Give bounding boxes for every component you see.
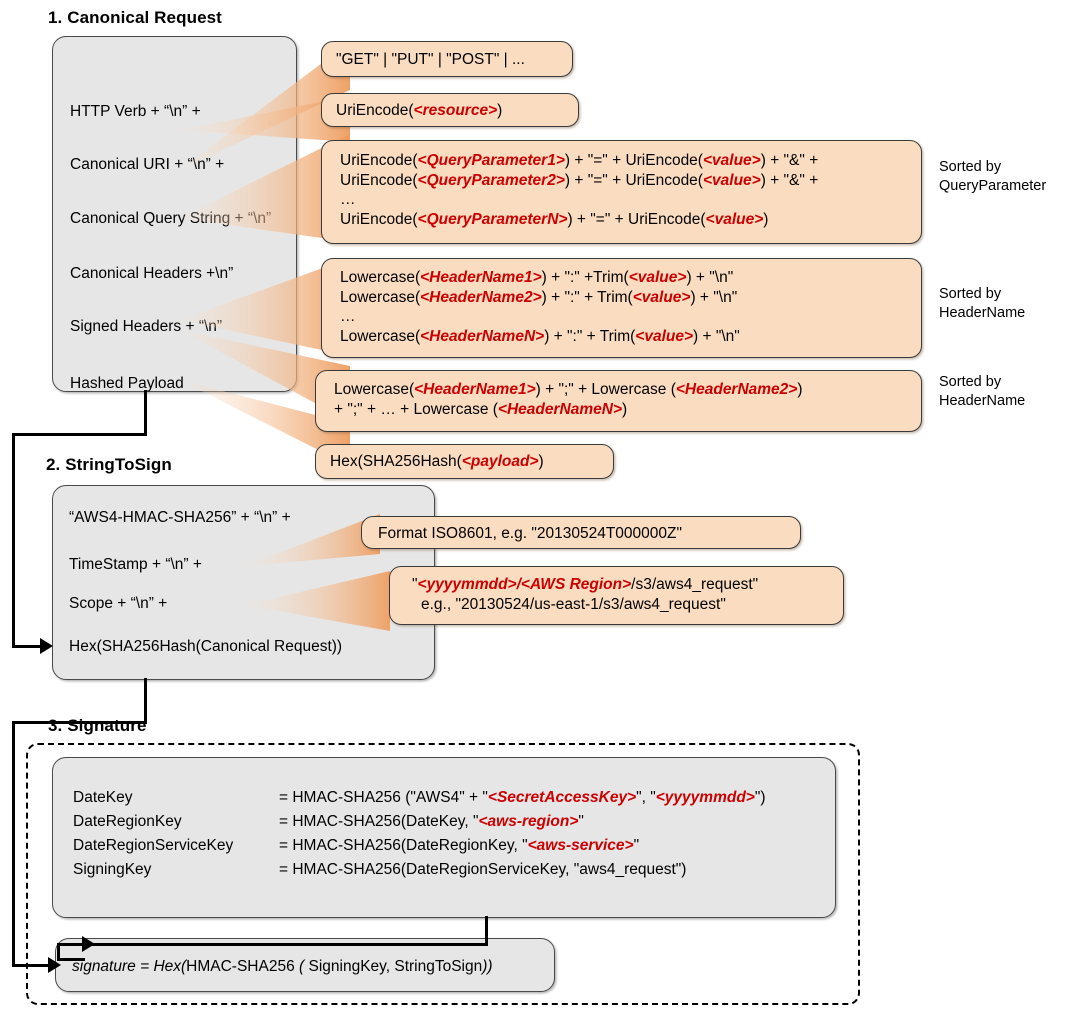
h-r3-v2: <value>: [635, 328, 693, 345]
q-r2-ellipsis: …: [340, 190, 921, 210]
signature-group-dashed-box: [26, 743, 860, 1005]
side-note-signed-headers-line1: Sorted by: [939, 373, 1001, 391]
payload-post: ): [539, 453, 544, 470]
sh-r0-c: ): [797, 381, 802, 398]
q-r0-b: ) + "=" + UriEncode(: [565, 152, 703, 169]
q-r1-a: UriEncode(: [340, 172, 418, 189]
arrowhead-signingkey-into-signature: [82, 936, 95, 952]
q-r3-v2: <value>: [706, 211, 764, 228]
scope-r1: e.g., "20130524/us-east-1/s3/aws4_reques…: [412, 595, 843, 615]
payload-pre: Hex(SHA256Hash(: [330, 453, 462, 470]
sts-line-scope: Scope + “\n” +: [69, 594, 167, 613]
q-r1-b: ) + "=" + UriEncode(: [565, 172, 703, 189]
diagram-canvas: 1. Canonical Request: [0, 0, 1068, 1016]
h-r3-a: Lowercase(: [340, 328, 420, 345]
side-note-query-line2: QueryParameter: [939, 177, 1046, 195]
callout-uri-pre: UriEncode(: [336, 102, 414, 119]
h-r3-b: ) + ":" + Trim(: [544, 328, 635, 345]
h-r3-c: ) + "\n": [693, 328, 740, 345]
connector-sts-left: [12, 721, 147, 724]
callout-uri-post: ): [497, 102, 502, 119]
pointer-scope: [245, 565, 390, 635]
h-r0-a: Lowercase(: [340, 269, 420, 286]
side-note-headers-line1: Sorted by: [939, 285, 1001, 303]
section-title-signature: 3. Signature: [48, 716, 147, 736]
sh-r0-v2: <HeaderName2>: [676, 381, 798, 398]
callout-uri-encode: UriEncode(<resource>): [321, 93, 579, 127]
h-r0-c: ) + "\n": [686, 269, 733, 286]
connector-sts-vertical: [12, 721, 15, 967]
q-r1-v1: <QueryParameter2>: [418, 172, 565, 189]
pointer-timestamp: [245, 508, 380, 568]
cr-line-hashed-payload: Hashed Payload: [70, 374, 184, 393]
scope-r0-c: /s3/aws4_request": [631, 576, 758, 593]
sh-r0-b: ) + ";" + Lowercase (: [536, 381, 676, 398]
connector-cr-vertical: [12, 433, 15, 648]
q-r1-c: ) + "&" +: [761, 172, 819, 189]
payload-var: <payload>: [462, 453, 539, 470]
h-r3-v1: <HeaderNameN>: [420, 328, 544, 345]
callout-timestamp-format: Format ISO8601, e.g. "20130524T000000Z": [361, 516, 801, 549]
arrowhead-sts-into-signature: [48, 957, 61, 973]
side-note-headers-line2: HeaderName: [939, 304, 1025, 322]
sh-r1-b: ): [622, 401, 627, 418]
callout-signed-headers: Lowercase(<HeaderName1>) + ";" + Lowerca…: [315, 370, 922, 432]
scope-r0-v1: <yyyymmdd>: [418, 576, 517, 593]
side-note-signed-headers-line2: HeaderName: [939, 392, 1025, 410]
h-r1-v1: <HeaderName2>: [420, 289, 542, 306]
side-note-query-line1: Sorted by: [939, 158, 1001, 176]
callout-http-verb: "GET" | "PUT" | "POST" | ...: [321, 41, 573, 77]
sts-line-hashed-canonical-request: Hex(SHA256Hash(Canonical Request)): [69, 637, 342, 656]
q-r3-v1: <QueryParameterN>: [418, 211, 568, 228]
h-r1-v2: <value>: [633, 289, 691, 306]
h-r0-b: ) + ":" +Trim(: [542, 269, 629, 286]
h-r1-a: Lowercase(: [340, 289, 420, 306]
callout-http-verb-text: "GET" | "PUT" | "POST" | ...: [336, 50, 572, 70]
callout-hashed-payload: Hex(SHA256Hash(<payload>): [315, 444, 614, 479]
sh-r0-a: Lowercase(: [334, 381, 414, 398]
q-r0-v2: <value>: [703, 152, 761, 169]
sh-r1-a: + ";" + … + Lowercase (: [334, 401, 498, 418]
callout-timestamp-text: Format ISO8601, e.g. "20130524T000000Z": [378, 524, 800, 544]
q-r3-b: ) + "=" + UriEncode(: [567, 211, 705, 228]
connector-signingkey-down: [485, 916, 488, 946]
q-r1-v2: <value>: [703, 172, 761, 189]
h-r0-v2: <value>: [629, 269, 687, 286]
callout-canonical-query-string: UriEncode(<QueryParameter1>) + "=" + Uri…: [321, 140, 922, 244]
h-r2-ellipsis: …: [340, 307, 921, 327]
h-r1-b: ) + ":" + Trim(: [542, 289, 633, 306]
arrowhead-into-sts: [40, 638, 53, 654]
sts-line-timestamp: TimeStamp + “\n” +: [69, 555, 202, 574]
q-r0-a: UriEncode(: [340, 152, 418, 169]
connector-sts-into-signature: [12, 964, 52, 967]
q-r0-v1: <QueryParameter1>: [418, 152, 565, 169]
connector-cr-down: [144, 390, 147, 436]
q-r3-c: ): [763, 211, 768, 228]
callout-uri-var: <resource>: [414, 102, 498, 119]
sh-r0-v1: <HeaderName1>: [414, 381, 536, 398]
q-r3-a: UriEncode(: [340, 211, 418, 228]
section-title-string-to-sign: 2. StringToSign: [46, 455, 172, 475]
connector-signingkey-into-signature: [57, 958, 85, 961]
callout-scope-format: "<yyyymmdd>/<AWS Region>/s3/aws4_request…: [389, 566, 844, 625]
scope-r0-v2: <AWS Region>: [521, 576, 631, 593]
section-title-canonical-request: 1. Canonical Request: [48, 8, 222, 28]
connector-signingkey-left: [57, 943, 488, 946]
connector-sts-down: [144, 678, 147, 724]
callout-canonical-headers: Lowercase(<HeaderName1>) + ":" +Trim(<va…: [321, 258, 922, 358]
connector-cr-left: [12, 433, 147, 436]
q-r0-c: ) + "&" +: [761, 152, 819, 169]
h-r1-c: ) + "\n": [690, 289, 737, 306]
sh-r1-v1: <HeaderNameN>: [498, 401, 622, 418]
h-r0-v1: <HeaderName1>: [420, 269, 542, 286]
